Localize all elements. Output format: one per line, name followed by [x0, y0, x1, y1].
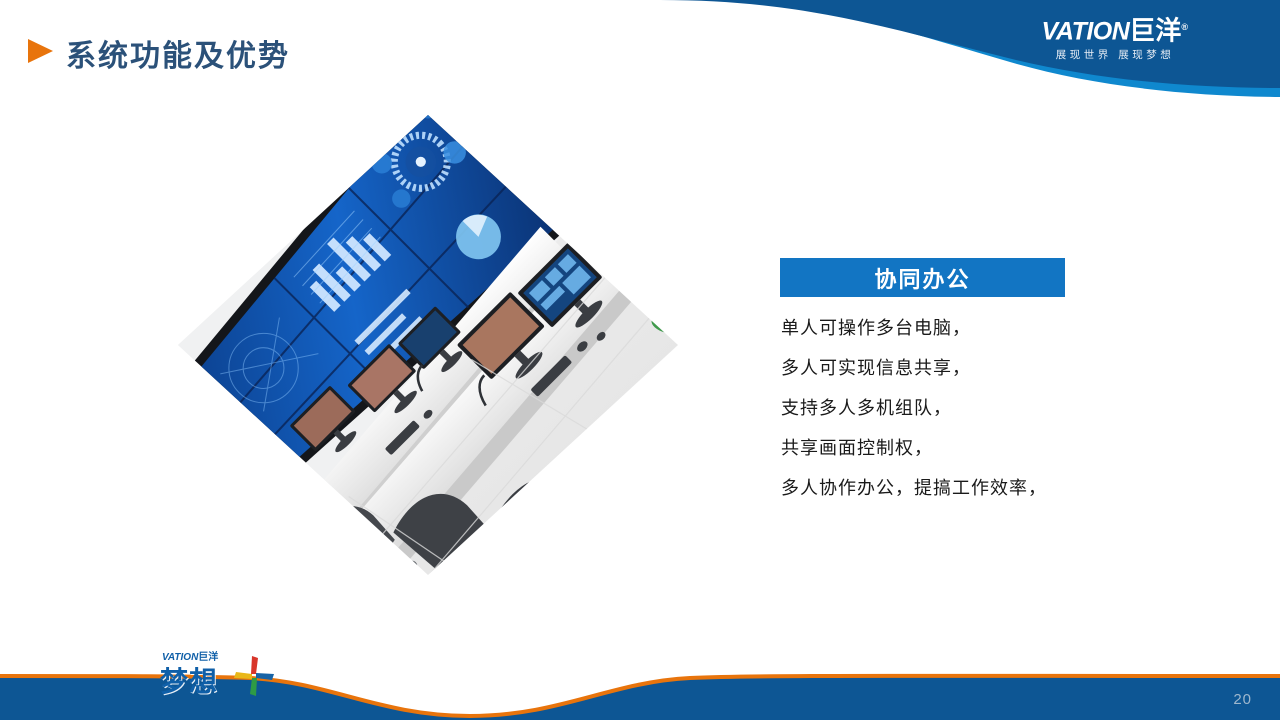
panel-line: 多人可实现信息共享，: [781, 348, 1111, 388]
pinwheel-arm-top: [251, 656, 258, 674]
presentation-slide: VATION巨洋® 展现世界 展现梦想 系统功能及优势: [0, 0, 1280, 720]
pinwheel-plus-icon: [232, 654, 276, 698]
triangle-bullet-icon: [28, 39, 53, 63]
brand-logo-tagline: 展现世界 展现梦想: [985, 47, 1245, 63]
panel-header-title: 协同办公: [874, 262, 970, 294]
brand-logo-cjk: 巨洋: [1129, 15, 1181, 45]
pinwheel-arm-left: [234, 672, 252, 679]
panel-header-bar: 协同办公: [780, 258, 1065, 297]
footer-brand-slogan: 梦想: [160, 660, 218, 700]
panel-line: 支持多人多机组队，: [781, 388, 1111, 428]
control-room-image: [178, 115, 678, 575]
brand-logo: VATION巨洋® 展现世界 展现梦想: [985, 12, 1245, 72]
page-number: 20: [1233, 691, 1252, 708]
control-room-video-wall-illustration: [178, 115, 678, 575]
panel-line: 单人可操作多台电脑，: [781, 308, 1111, 348]
panel-line: 共享画面控制权，: [781, 428, 1111, 468]
registered-mark-icon: ®: [1181, 22, 1188, 32]
brand-logo-name: VATION巨洋®: [985, 12, 1245, 46]
pinwheel-arm-bottom: [250, 678, 257, 696]
brand-logo-latin: VATION: [1042, 17, 1130, 45]
diamond-clip-mask: [178, 115, 678, 575]
panel-line: 多人协作办公，提搞工作效率，: [781, 468, 1111, 508]
panel-body: 单人可操作多台电脑， 多人可实现信息共享， 支持多人多机组队， 共享画面控制权，…: [781, 308, 1111, 508]
page-title: 系统功能及优势: [66, 31, 290, 75]
footer-brand-logo: VATION巨洋 梦想: [160, 648, 290, 700]
pinwheel-arm-right: [256, 673, 274, 680]
